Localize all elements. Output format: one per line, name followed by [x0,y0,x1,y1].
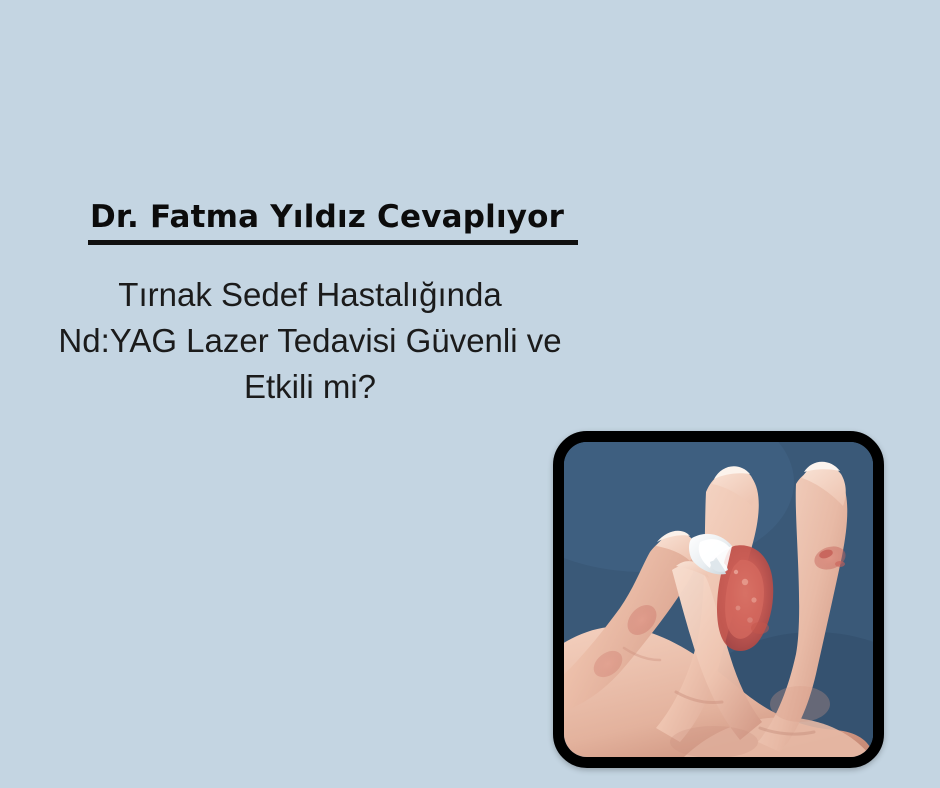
clinical-photo-frame [553,431,884,768]
slide-canvas: Dr. Fatma Yıldız Cevaplıyor Tırnak Sedef… [0,0,940,788]
subtitle-line-2: Nd:YAG Lazer Tedavisi Güvenli ve [10,318,610,364]
subtitle-line-1: Tırnak Sedef Hastalığında [10,272,610,318]
page-title: Dr. Fatma Yıldız Cevaplıyor [90,198,582,236]
heading-block: Dr. Fatma Yıldız Cevaplıyor [88,198,582,245]
hand-illustration [564,442,873,757]
subtitle-block: Tırnak Sedef Hastalığında Nd:YAG Lazer T… [10,272,610,410]
title-underline-rule [88,240,578,245]
subtitle-line-3: Etkili mi? [10,364,610,410]
clinical-photo-nail-psoriasis [564,442,873,757]
